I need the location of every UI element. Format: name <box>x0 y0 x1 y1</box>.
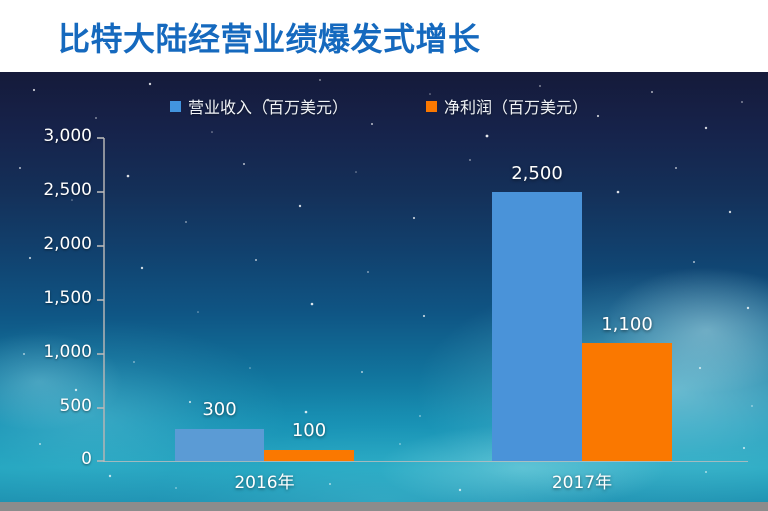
y-tick-mark <box>97 191 104 193</box>
bar-profit-2016[interactable] <box>264 450 354 461</box>
bar-value-revenue-2016: 300 <box>175 399 264 420</box>
y-axis-label-500: 500 <box>8 396 92 416</box>
y-tick-mark <box>97 245 104 247</box>
slide-canvas: 比特大陆经营业绩爆发式增长 <box>0 0 768 511</box>
y-axis-label-2000: 2,000 <box>8 234 92 254</box>
bar-revenue-2017[interactable] <box>492 192 582 461</box>
y-tick-mark <box>97 407 104 409</box>
bar-value-profit-2017: 1,100 <box>582 314 672 335</box>
y-tick-mark <box>97 353 104 355</box>
y-tick-mark <box>97 460 104 462</box>
bar-revenue-2016[interactable] <box>175 429 264 461</box>
page-title: 比特大陆经营业绩爆发式增长 <box>58 14 481 60</box>
y-axis-label-1000: 1,000 <box>8 342 92 362</box>
y-axis-label-0: 0 <box>8 449 92 469</box>
y-axis-label-3000: 3,000 <box>8 126 92 146</box>
bottom-strip <box>0 502 768 511</box>
y-tick-mark <box>97 299 104 301</box>
chart-background: 营业收入（百万美元） 净利润（百万美元） 3,000 2,500 2,000 1… <box>0 72 768 502</box>
x-axis-line <box>103 461 748 462</box>
title-band: 比特大陆经营业绩爆发式增长 <box>0 0 768 72</box>
y-axis-label-2500: 2,500 <box>8 180 92 200</box>
y-tick-mark <box>97 137 104 139</box>
y-axis-label-1500: 1,500 <box>8 288 92 308</box>
bar-value-profit-2016: 100 <box>264 420 354 441</box>
bar-value-revenue-2017: 2,500 <box>492 163 582 184</box>
plot-area: 3,000 2,500 2,000 1,500 1,000 500 0 300 … <box>0 72 768 502</box>
bar-profit-2017[interactable] <box>582 343 672 461</box>
x-axis-label-2016: 2016年 <box>175 468 354 493</box>
x-axis-label-2017: 2017年 <box>492 468 672 493</box>
